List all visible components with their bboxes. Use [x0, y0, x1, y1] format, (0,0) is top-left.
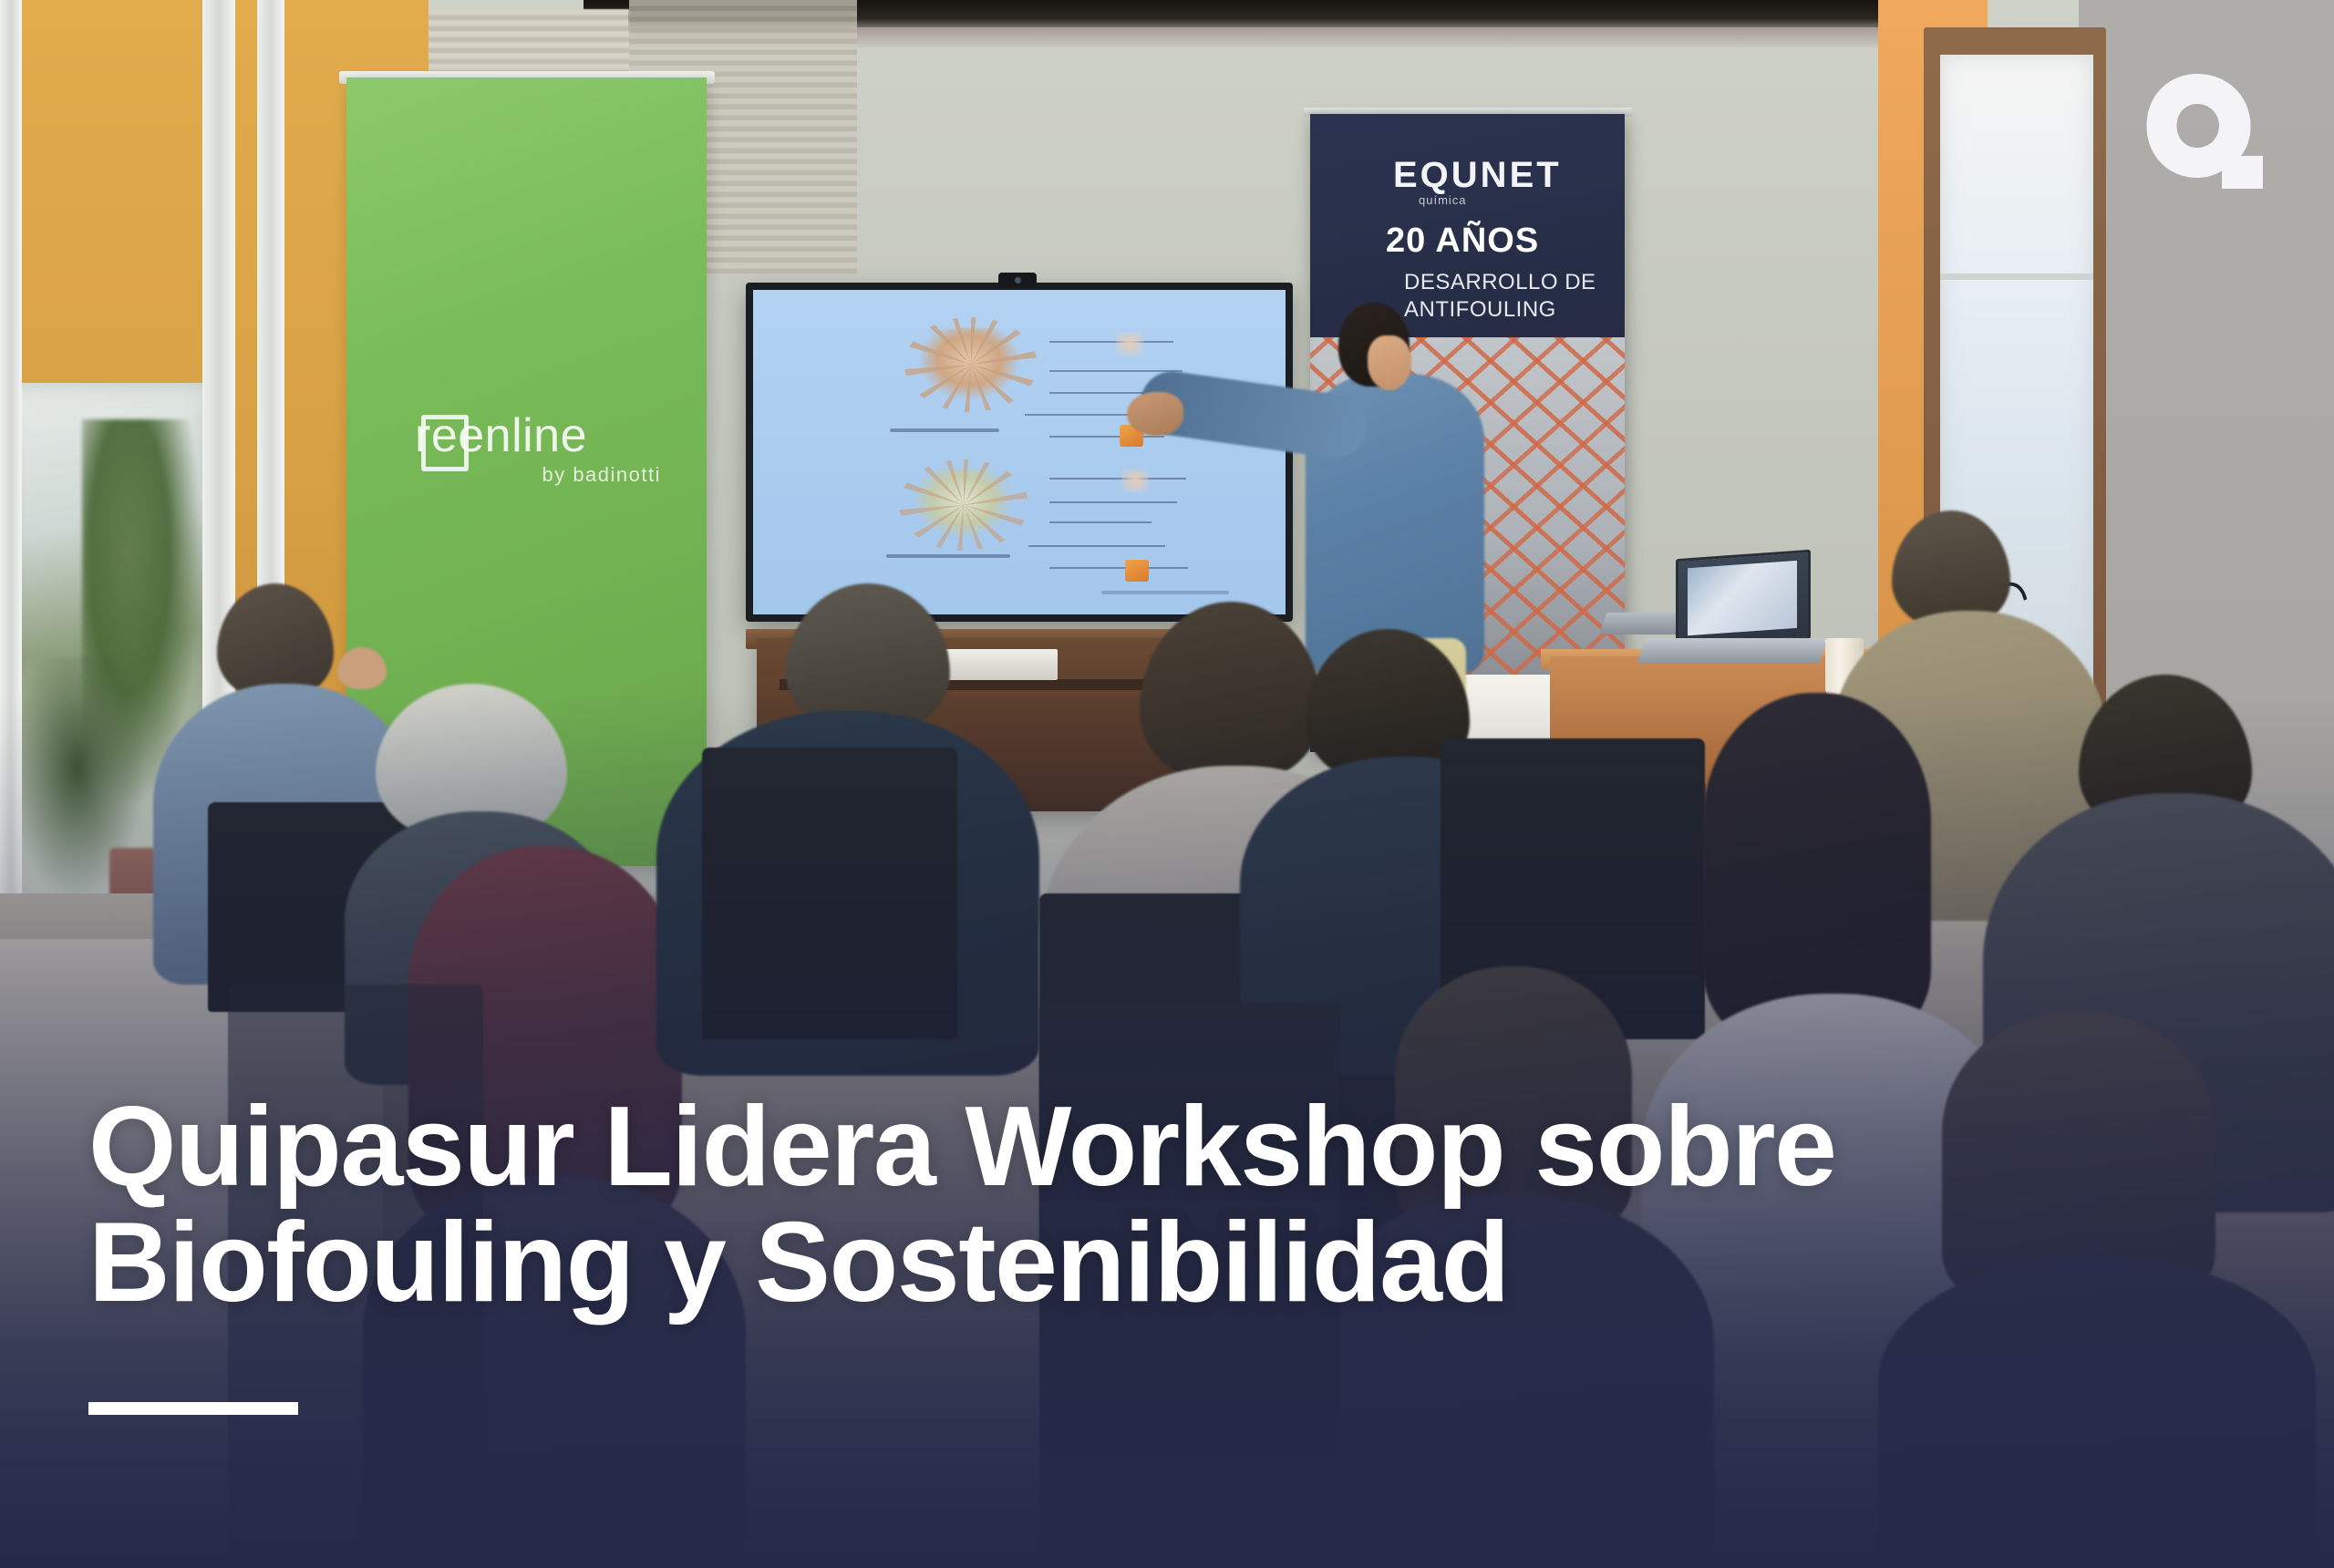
slide-row-2 — [1049, 370, 1182, 372]
laptop-keyboard — [1637, 638, 1827, 664]
article-hero-card: reenline by badinotti EQUNET química 20 … — [0, 0, 2334, 1568]
slide-row-8 — [1049, 521, 1152, 523]
slide-caption-top — [890, 428, 999, 432]
greenline-logo-text: reenline — [415, 409, 587, 462]
equnet-line-2: ANTIFOULING — [1404, 297, 1556, 323]
attendee-hand-left — [337, 647, 387, 689]
equnet-brand: EQUNET — [1393, 155, 1562, 196]
equnet-line-1: DESARROLLO DE — [1404, 270, 1596, 295]
equnet-years: 20 AÑOS — [1386, 222, 1539, 261]
slide-row-3 — [1049, 392, 1155, 394]
equnet-brand-sub: química — [1419, 193, 1467, 207]
headline-line-1: Quipasur Lidera Workshop sobre — [88, 1084, 1835, 1210]
headline-line-2: Biofouling y Sostenibilidad — [88, 1205, 2094, 1320]
slide-icon-organism-2 — [1121, 469, 1149, 492]
greenline-logo: reenline by badinotti — [415, 412, 661, 508]
page-title: Quipasur Lidera Workshop sobre Biofoulin… — [88, 1089, 2094, 1320]
title-underline-rule — [88, 1402, 298, 1415]
slide-caption-bottom — [886, 554, 1010, 558]
presenter-hand — [1127, 392, 1183, 436]
laptop-screen — [1676, 550, 1811, 648]
slide-row-10 — [1049, 567, 1188, 569]
slide-row-1 — [1049, 341, 1173, 343]
quipasur-q-logo-icon — [2133, 66, 2272, 202]
greenline-logo-sub: by badinotti — [415, 465, 661, 485]
slide-axis-caption — [1101, 591, 1229, 594]
slide-row-5 — [1049, 436, 1164, 438]
slide-row-9 — [1028, 545, 1165, 547]
webcam-icon — [998, 273, 1037, 287]
presenter-face — [1368, 335, 1411, 390]
slide-icon-organism-1 — [1116, 332, 1143, 356]
slide-crab-bottom-legs — [899, 459, 1028, 551]
right-window-mullion — [1940, 273, 2093, 280]
slide-crab-top-legs — [904, 317, 1038, 412]
presentation-screen — [753, 290, 1286, 614]
slide-row-6 — [1049, 478, 1186, 480]
media-console-object — [939, 649, 1058, 680]
slide-row-7 — [1049, 501, 1177, 503]
slide-icon-crab-2 — [1125, 560, 1149, 582]
